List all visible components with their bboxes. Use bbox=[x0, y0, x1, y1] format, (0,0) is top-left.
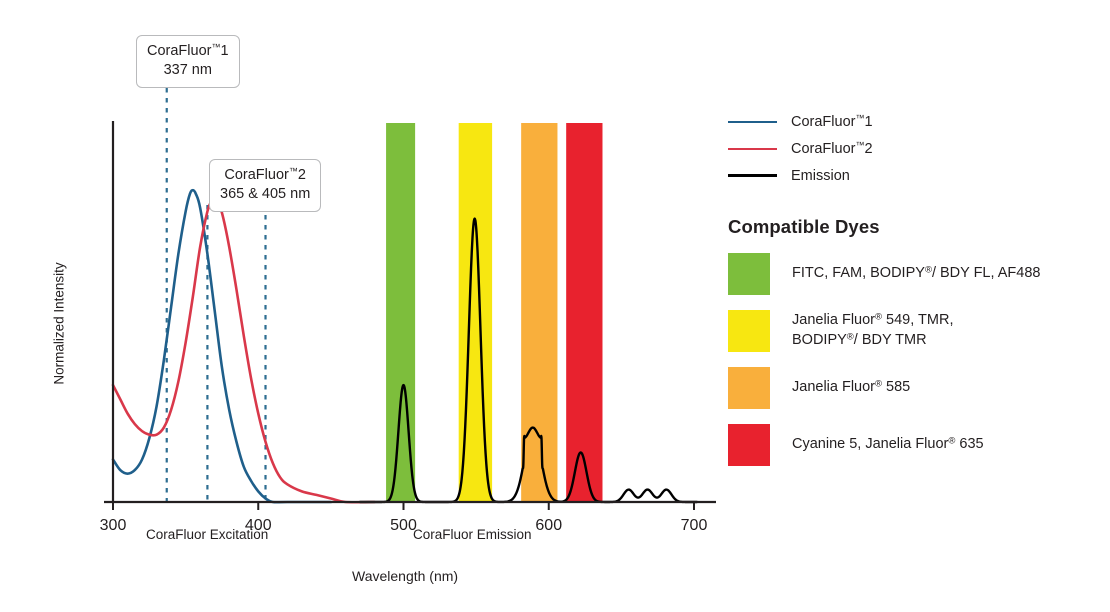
curve-corafluor2 bbox=[113, 200, 374, 502]
excitation-region-label: CoraFluor Excitation bbox=[146, 527, 268, 542]
legend-and-dyes-panel: CoraFluor™1CoraFluor™2Emission Compatibl… bbox=[728, 108, 1098, 480]
dye-color-swatch bbox=[728, 310, 770, 352]
legend-line-swatch bbox=[728, 148, 777, 150]
x-axis-label: Wavelength (nm) bbox=[352, 568, 458, 584]
registered-symbol: ® bbox=[875, 312, 882, 323]
dye-label-line: Janelia Fluor® 549, TMR, bbox=[792, 311, 953, 331]
legend-item-label: Emission bbox=[791, 168, 850, 184]
callout-cf1-line1: CoraFluor™1 bbox=[147, 42, 229, 61]
legend-item-corafluor1: CoraFluor™1 bbox=[728, 108, 1098, 135]
dye-label-line: Cyanine 5, Janelia Fluor® 635 bbox=[792, 435, 984, 455]
dye-color-swatch bbox=[728, 367, 770, 409]
dye-label: Cyanine 5, Janelia Fluor® 635 bbox=[792, 435, 984, 455]
dye-label: Janelia Fluor® 549, TMR,BODIPY®/ BDY TMR bbox=[792, 311, 953, 350]
callout-cf2-line2: 365 & 405 nm bbox=[220, 185, 310, 204]
dye-label-line: BODIPY®/ BDY TMR bbox=[792, 331, 953, 351]
x-tick-label-700: 700 bbox=[681, 517, 708, 534]
callout-cf2-line1: CoraFluor™2 bbox=[220, 166, 310, 185]
channel-band-orange bbox=[521, 123, 557, 502]
legend-item-emission: Emission bbox=[728, 162, 1098, 189]
legend-line-swatch bbox=[728, 174, 777, 177]
emission-region-label: CoraFluor Emission bbox=[413, 527, 532, 542]
dye-row: Janelia Fluor® 549, TMR,BODIPY®/ BDY TMR bbox=[728, 309, 1098, 353]
dye-label: Janelia Fluor® 585 bbox=[792, 378, 910, 398]
dye-row: FITC, FAM, BODIPY®/ BDY FL, AF488 bbox=[728, 252, 1098, 296]
legend-item-label: CoraFluor™2 bbox=[791, 140, 873, 157]
callout-corafluor-2: CoraFluor™2 365 & 405 nm bbox=[209, 159, 321, 212]
legend-item-label: CoraFluor™1 bbox=[791, 113, 873, 130]
channel-band-red bbox=[566, 123, 602, 502]
dye-color-swatch bbox=[728, 253, 770, 295]
curve-corafluor1 bbox=[113, 190, 331, 502]
dye-label-line: Janelia Fluor® 585 bbox=[792, 378, 910, 398]
dye-row: Cyanine 5, Janelia Fluor® 635 bbox=[728, 423, 1098, 467]
compatible-dyes-heading: Compatible Dyes bbox=[728, 216, 1098, 238]
callout-cf1-line2: 337 nm bbox=[147, 61, 229, 80]
spectra-figure: 300400500600700 CoraFluor™1 337 nm CoraF… bbox=[0, 0, 1110, 612]
x-tick-label-600: 600 bbox=[535, 517, 562, 534]
y-axis-label: Normalized Intensity bbox=[52, 244, 67, 404]
callout-corafluor-1: CoraFluor™1 337 nm bbox=[136, 35, 240, 88]
registered-symbol: ® bbox=[847, 331, 854, 342]
dye-label-line: FITC, FAM, BODIPY®/ BDY FL, AF488 bbox=[792, 264, 1040, 284]
dye-label: FITC, FAM, BODIPY®/ BDY FL, AF488 bbox=[792, 264, 1040, 284]
legend-item-corafluor2: CoraFluor™2 bbox=[728, 135, 1098, 162]
excitation-marker-lines-group bbox=[167, 88, 266, 502]
trademark-symbol: ™ bbox=[289, 166, 298, 176]
dye-color-swatch bbox=[728, 424, 770, 466]
compatible-dyes-list: FITC, FAM, BODIPY®/ BDY FL, AF488Janelia… bbox=[728, 252, 1098, 467]
registered-symbol: ® bbox=[875, 378, 882, 389]
legend-line-swatch bbox=[728, 121, 777, 123]
x-tick-label-300: 300 bbox=[100, 517, 127, 534]
registered-symbol: ® bbox=[925, 264, 932, 275]
dye-row: Janelia Fluor® 585 bbox=[728, 366, 1098, 410]
series-legend: CoraFluor™1CoraFluor™2Emission bbox=[728, 108, 1098, 189]
channel-bands-group bbox=[386, 123, 602, 502]
